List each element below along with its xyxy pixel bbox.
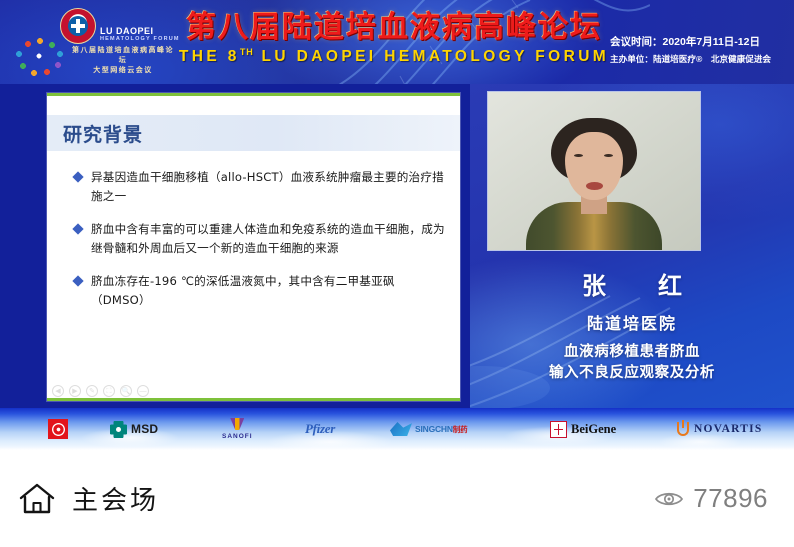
novartis-flame-icon (676, 421, 690, 437)
sponsor-sanofi-label: SANOFI (222, 433, 253, 440)
presentation-slide[interactable]: 研究背景 异基因造血干细胞移植（allo-HSCT）血液系统肿瘤最主要的治疗措施… (47, 93, 460, 401)
speaker-mouth (586, 182, 603, 190)
speaker-topic-line1: 血液病移植患者脐血 (470, 342, 794, 363)
singchn-name: SINGCHN (415, 424, 453, 434)
sponsor-beigene-logo[interactable]: BeiGene (550, 421, 616, 438)
slide-bullet-text: 脐血中含有丰富的可以重建人体造血和免疫系统的造血干细胞，成为继骨髓和外周血后又一… (91, 220, 447, 259)
venue-label: 主会场 (72, 480, 159, 517)
conference-people-circle-icon (14, 36, 72, 78)
stream-stage[interactable]: LU DAOPEI HEMATOLOGY FORUM 第八届陆道培血液病高峰论坛… (0, 0, 794, 450)
speaker-name: 张 红 (470, 266, 794, 301)
bottom-bar: 主会场 77896 (0, 450, 794, 547)
event-title-en-rest: LU DAOPEI HEMATOLOGY FORUM (254, 49, 609, 66)
event-title-english: THE 8TH LU DAOPEI HEMATOLOGY FORUM (168, 47, 620, 66)
list-item: 异基因造血干细胞移植（allo-HSCT）血液系统肿瘤最主要的治疗措施之一 (65, 168, 447, 207)
minimize-icon[interactable]: — (137, 385, 149, 397)
diamond-bullet-icon (72, 223, 83, 234)
sponsor-red-seal-logo[interactable] (48, 419, 68, 439)
event-title-en-ordinal: TH (240, 47, 254, 57)
organization-logo: LU DAOPEI HEMATOLOGY FORUM 第八届陆道培血液病高峰论坛… (12, 6, 172, 78)
prev-slide-icon[interactable]: ◀ (52, 385, 64, 397)
speaker-panel: 张 红 陆道培医院 血液病移植患者脐血 输入不良反应观察及分析 (470, 84, 794, 408)
diamond-bullet-icon (72, 275, 83, 286)
event-meta-block: 会议时间：2020年7月11日-12日 主办单位：陆道培医疗® 北京健康促进会 (610, 34, 786, 66)
event-title-chinese: 第八届陆道培血液病高峰论坛 (168, 10, 620, 45)
speaker-eye-left (574, 154, 583, 157)
sponsor-msd-label: MSD (131, 422, 158, 436)
viewer-count: 77896 (693, 483, 768, 514)
home-icon[interactable] (18, 482, 56, 516)
beigene-seal-icon (550, 421, 567, 438)
conference-chinese-logo-text: 第八届陆道培血液病高峰论坛 大型网络云会议 (68, 46, 178, 76)
slide-bullet-text: 脐血冻存在-196 ℃的深低温液氮中，其中含有二甲基亚砜（DMSO） (91, 272, 447, 311)
annotate-icon[interactable]: ✎ (86, 385, 98, 397)
sponsor-singchn-label: SINGCHN制药 (415, 424, 467, 435)
speaker-topic-line2: 输入不良反应观察及分析 (470, 363, 794, 384)
fullscreen-icon[interactable]: ⛶ (103, 385, 115, 397)
sponsor-strip: MSD SANOFI Pfizer SINGCHN制药 BeiGene (0, 408, 794, 450)
sponsor-singchn-logo[interactable]: SINGCHN制药 (390, 422, 467, 436)
list-item: 脐血冻存在-196 ℃的深低温液氮中，其中含有二甲基亚砜（DMSO） (65, 272, 447, 311)
event-title-en-prefix: THE 8 (179, 49, 240, 66)
sponsor-novartis-label: NOVARTIS (694, 423, 762, 435)
medical-cross-icon (68, 16, 88, 36)
zoom-icon[interactable]: 🔍 (120, 385, 132, 397)
sanofi-mark-icon (228, 418, 246, 433)
sponsor-msd-logo[interactable]: MSD (110, 421, 158, 438)
singchn-mark-icon (390, 422, 412, 436)
speaker-topic: 血液病移植患者脐血 输入不良反应观察及分析 (470, 342, 794, 384)
slide-bullet-list: 异基因造血干细胞移植（allo-HSCT）血液系统肿瘤最主要的治疗措施之一 脐血… (65, 168, 447, 324)
viewer-count-group: 77896 (654, 483, 768, 514)
slide-bottom-accent-bar (47, 398, 460, 401)
speaker-video-feed[interactable] (487, 91, 701, 251)
sponsor-pfizer-label: Pfizer (305, 421, 335, 437)
sponsor-logo-row: MSD SANOFI Pfizer SINGCHN制药 BeiGene (0, 408, 794, 450)
event-title-block: 第八届陆道培血液病高峰论坛 THE 8TH LU DAOPEI HEMATOLO… (168, 10, 620, 67)
next-slide-icon[interactable]: ▶ (69, 385, 81, 397)
slide-control-toolbar[interactable]: ◀ ▶ ✎ ⛶ 🔍 — (52, 385, 149, 397)
meeting-organizers: 主办单位：陆道培医疗® 北京健康促进会 (610, 52, 786, 67)
slide-bullet-text: 异基因造血干细胞移植（allo-HSCT）血液系统肿瘤最主要的治疗措施之一 (91, 168, 447, 207)
event-banner: LU DAOPEI HEMATOLOGY FORUM 第八届陆道培血液病高峰论坛… (0, 0, 794, 84)
sponsor-sanofi-logo[interactable]: SANOFI (222, 418, 253, 440)
eye-icon (654, 489, 684, 509)
conference-cn-line2: 大型网络云会议 (68, 66, 178, 76)
live-stream-page: LU DAOPEI HEMATOLOGY FORUM 第八届陆道培血液病高峰论坛… (0, 0, 794, 547)
sponsor-pfizer-logo[interactable]: Pfizer (305, 421, 335, 437)
sponsor-novartis-logo[interactable]: NOVARTIS (676, 421, 762, 437)
red-seal-icon (48, 419, 68, 439)
msd-clover-icon (110, 421, 127, 438)
conference-cn-line1: 第八届陆道培血液病高峰论坛 (68, 46, 178, 66)
venue-entry[interactable]: 主会场 (18, 480, 159, 517)
diamond-bullet-icon (72, 171, 83, 182)
slide-title: 研究背景 (63, 120, 143, 147)
sponsor-beigene-label: BeiGene (571, 422, 616, 437)
speaker-organization: 陆道培医院 (470, 310, 794, 334)
singchn-suffix: 制药 (453, 425, 468, 434)
speaker-eye-right (604, 154, 613, 157)
meeting-time: 会议时间：2020年7月11日-12日 (610, 34, 786, 52)
list-item: 脐血中含有丰富的可以重建人体造血和免疫系统的造血干细胞，成为继骨髓和外周血后又一… (65, 220, 447, 259)
